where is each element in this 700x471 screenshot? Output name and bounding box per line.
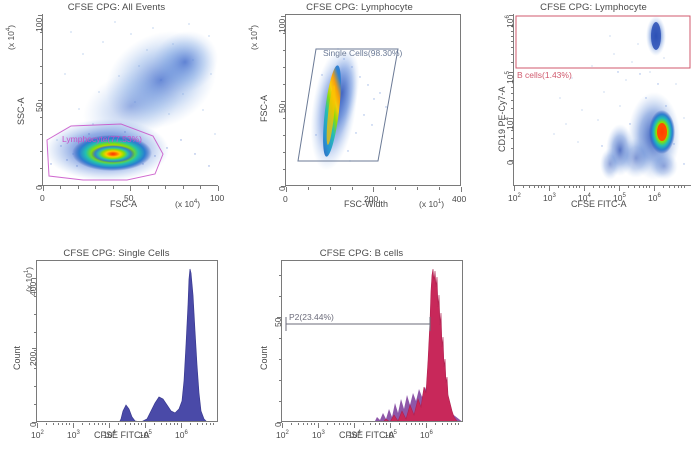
x-tick	[373, 187, 374, 192]
x-tick-major	[73, 423, 74, 428]
x-axis-label: FSC-Width	[344, 199, 388, 209]
y-axis-label: CD19 PE-Cy7-A	[497, 86, 507, 152]
x-tick-minor	[593, 186, 594, 188]
y-tick-minor	[511, 130, 514, 131]
x-mult-exp: 1	[438, 199, 441, 205]
x-tick	[395, 187, 396, 190]
y-tick	[40, 134, 43, 135]
x-tick-minor	[213, 423, 214, 425]
x-tick-minor	[399, 423, 400, 425]
y-tick	[283, 67, 286, 68]
marker-label-p2[interactable]: P2(23.44%)	[289, 312, 334, 322]
y-tick-minor	[511, 41, 514, 42]
y-tick-minor	[511, 54, 514, 55]
x-tick-minor	[523, 186, 524, 188]
x-tick-minor	[177, 423, 178, 425]
x-tick-label: 400	[452, 194, 466, 204]
x-tick-minor	[170, 423, 171, 425]
y-tick-minor	[279, 380, 282, 381]
x-tick-minor	[347, 423, 348, 425]
x-axis-label: CFSE FITC-A	[94, 430, 150, 440]
x-tick-minor	[89, 423, 90, 425]
y-tick	[283, 33, 286, 34]
x-tick-minor	[314, 423, 315, 425]
tick-exp: 2	[517, 193, 520, 199]
x-tick-minor	[311, 423, 312, 425]
tick-exp: 6	[429, 430, 432, 436]
x-tick-minor	[154, 423, 155, 425]
density-scatter-canvas	[286, 15, 460, 185]
y-axis-label: FSC-A	[259, 95, 269, 122]
x-tick-minor	[98, 423, 99, 425]
x-tick-minor	[339, 423, 340, 425]
x-tick-major	[584, 186, 585, 191]
y-tick-minor	[34, 314, 37, 315]
plot-area	[43, 14, 218, 185]
x-tick-minor	[118, 423, 119, 425]
panel-single-cells-hist: CFSE CPG: Single Cells	[0, 240, 233, 471]
x-tick-minor	[82, 423, 83, 425]
y-tick-minor	[511, 36, 514, 37]
x-tick	[165, 186, 166, 189]
y-mult-text: (x 10	[6, 31, 16, 50]
tick-base: 10	[505, 19, 515, 28]
x-tick-minor	[634, 186, 635, 188]
x-tick-minor	[599, 186, 600, 188]
y-tick-minor	[511, 108, 514, 109]
y-tick-minor	[34, 368, 37, 369]
y-tick-label: 106	[505, 15, 515, 28]
x-tick	[183, 186, 184, 189]
y-axis-multiplier: (x 104)	[6, 25, 16, 50]
x-tick-major	[549, 186, 550, 191]
x-tick-minor	[458, 423, 459, 425]
x-tick-minor	[166, 423, 167, 425]
tick-exp: 3	[76, 430, 79, 436]
density-scatter-canvas	[43, 14, 218, 185]
x-tick-major	[514, 186, 515, 191]
x-axis-label: CFSE FITC-A	[339, 430, 395, 440]
x-tick-minor	[141, 423, 142, 425]
x-tick-label: 103	[67, 430, 80, 440]
x-tick-major	[354, 423, 355, 428]
x-tick-minor	[334, 423, 335, 425]
y-tick-minor	[34, 386, 37, 387]
density-scatter-canvas	[514, 14, 691, 185]
y-tick-label: 100	[34, 18, 44, 32]
x-tick-minor	[66, 423, 67, 425]
x-tick-minor	[558, 186, 559, 188]
plot-frame: 102 103 104 105 106 0 50	[281, 260, 463, 422]
y-tick	[38, 15, 43, 16]
x-tick-minor	[307, 423, 308, 425]
x-tick-minor	[684, 186, 685, 188]
panel-bcells-hist: CFSE CPG: B cells	[245, 240, 478, 471]
x-tick-minor	[327, 423, 328, 425]
x-tick-minor	[447, 423, 448, 425]
x-tick-minor	[608, 186, 609, 188]
plot-area	[282, 261, 462, 421]
tick-base: 10	[505, 75, 515, 84]
x-tick-minor	[62, 423, 63, 425]
x-tick-minor	[174, 423, 175, 425]
x-tick-minor	[614, 186, 615, 188]
x-tick-minor	[576, 186, 577, 188]
x-tick-minor	[435, 423, 436, 425]
x-tick-label: 102	[31, 430, 44, 440]
x-tick-minor	[406, 423, 407, 425]
x-tick-minor	[298, 423, 299, 425]
x-tick	[352, 187, 353, 190]
x-tick	[95, 186, 96, 189]
y-tick	[38, 100, 43, 101]
x-tick-minor	[649, 186, 650, 188]
x-tick-minor	[573, 186, 574, 188]
x-mult-text: (x 10	[175, 199, 194, 209]
y-tick-minor	[279, 338, 282, 339]
x-tick-major	[109, 423, 110, 428]
tick-exp: 6	[657, 193, 660, 199]
x-tick-minor	[455, 423, 456, 425]
tick-exp: 3	[321, 430, 324, 436]
x-tick	[439, 187, 440, 190]
panel-title: CFSE CPG: All Events	[0, 2, 233, 13]
x-tick	[113, 186, 114, 189]
x-tick-minor	[69, 423, 70, 425]
panel-title: CFSE CPG: B cells	[245, 248, 478, 259]
y-axis-label: Count	[12, 346, 22, 370]
x-mult-exp: 4	[194, 199, 197, 205]
plot-area	[286, 15, 460, 185]
y-tick-minor	[511, 148, 514, 149]
x-tick-minor	[202, 423, 203, 425]
x-tick-major	[318, 423, 319, 428]
x-tick-minor	[569, 186, 570, 188]
y-tick	[40, 117, 43, 118]
x-tick-minor	[134, 423, 135, 425]
panel-title: CFSE CPG: Lymphocyte	[487, 2, 700, 13]
plot-area	[37, 261, 217, 421]
y-tick	[283, 50, 286, 51]
y-tick-minor	[279, 359, 282, 360]
y-tick-label: 0	[277, 186, 287, 191]
y-mult-text: (x 10	[249, 31, 259, 50]
y-axis-label: SSC-A	[16, 97, 26, 125]
plot-area	[514, 14, 691, 185]
x-tick-minor	[442, 423, 443, 425]
x-tick-major	[145, 423, 146, 428]
y-tick-minor	[511, 87, 514, 88]
x-tick-minor	[210, 423, 211, 425]
x-tick-label: 0	[40, 193, 45, 203]
x-tick	[218, 186, 219, 191]
x-axis-multiplier: (x 104)	[175, 199, 200, 209]
x-tick-minor	[674, 186, 675, 188]
y-tick-minor	[511, 93, 514, 94]
tick-exp: 2	[285, 430, 288, 436]
x-tick-minor	[534, 186, 535, 188]
x-tick	[78, 186, 79, 189]
y-axis-multiplier: (x 104)	[249, 25, 259, 50]
x-tick-minor	[681, 186, 682, 188]
panel-lymphocyte-bcells: CFSE CPG: Lymphocyte	[487, 0, 700, 235]
y-tick-label: 0	[273, 422, 283, 427]
y-tick-minor	[279, 401, 282, 402]
tick-exp: 3	[552, 193, 555, 199]
gate-label-bcells[interactable]: B cells(1.43%)	[517, 70, 572, 80]
x-tick-minor	[678, 186, 679, 188]
x-tick-label: 0	[283, 194, 288, 204]
x-axis-label: CFSE FITC-A	[571, 199, 627, 209]
x-tick	[308, 187, 309, 190]
plot-frame: 102 103 104 105 106 0 200 400	[36, 260, 218, 422]
x-tick-label: 106	[420, 430, 433, 440]
x-tick-minor	[363, 423, 364, 425]
y-tick-minor	[279, 275, 282, 276]
x-tick-minor	[544, 186, 545, 188]
y-tick-label: 0	[34, 185, 44, 190]
x-tick	[200, 186, 201, 189]
gate-label-single-cells[interactable]: Single Cells(98.30%)	[323, 48, 402, 58]
x-tick-minor	[343, 423, 344, 425]
y-tick-minor	[511, 47, 514, 48]
histogram-trace-bcells	[282, 269, 462, 421]
x-tick	[148, 186, 149, 189]
x-tick	[461, 187, 462, 192]
x-tick	[130, 186, 131, 191]
y-tick	[40, 66, 43, 67]
y-mult-exp: 4	[249, 28, 255, 31]
y-mult-text: (x 10	[24, 273, 34, 292]
x-tick-minor	[375, 423, 376, 425]
x-tick-minor	[130, 423, 131, 425]
x-tick	[417, 187, 418, 190]
panel-lymphocyte-singlets: CFSE CPG: Lymphocyte	[243, 0, 476, 235]
y-tick	[283, 152, 286, 153]
x-tick-minor	[579, 186, 580, 188]
x-tick-minor	[102, 423, 103, 425]
x-axis-label: FSC-A	[110, 199, 137, 209]
x-tick-major	[619, 186, 620, 191]
panel-all-events: CFSE CPG: All Events	[0, 0, 233, 235]
x-tick-label: 106	[175, 430, 188, 440]
y-tick-label: 50	[273, 318, 283, 327]
x-tick-minor	[451, 423, 452, 425]
x-tick-minor	[529, 186, 530, 188]
tick-exp: 2	[40, 430, 43, 436]
x-tick-minor	[419, 423, 420, 425]
x-tick-minor	[125, 423, 126, 425]
x-tick-minor	[663, 186, 664, 188]
y-mult-exp: 4	[6, 28, 12, 31]
y-tick	[40, 151, 43, 152]
plot-frame: 0 200 400 0 50 100	[285, 14, 461, 186]
histogram-canvas	[37, 261, 217, 421]
y-axis-label: Count	[259, 346, 269, 370]
tick-exp: 6	[184, 430, 187, 436]
x-tick-minor	[669, 186, 670, 188]
y-tick-label: 50	[34, 103, 44, 112]
x-tick-minor	[541, 186, 542, 188]
y-axis-multiplier: (x 101)	[24, 267, 34, 292]
y-tick	[40, 168, 43, 169]
x-tick-minor	[411, 423, 412, 425]
x-tick-label: 100	[210, 193, 224, 203]
x-tick-label: 103	[312, 430, 325, 440]
x-tick-minor	[197, 423, 198, 425]
y-tick-label: 105	[505, 71, 515, 84]
x-tick-major	[426, 423, 427, 428]
y-mult-exp: 1	[24, 270, 30, 273]
y-tick-label: 0	[28, 422, 38, 427]
tick-exp: 5	[505, 71, 511, 74]
x-tick-minor	[611, 186, 612, 188]
y-tick	[281, 101, 286, 102]
x-tick-label: 102	[508, 193, 521, 203]
x-mult-text: (x 10	[419, 199, 438, 209]
x-tick-minor	[105, 423, 106, 425]
x-tick-label: 102	[276, 430, 289, 440]
y-tick	[283, 135, 286, 136]
x-tick-minor	[383, 423, 384, 425]
x-tick-minor	[386, 423, 387, 425]
x-tick-minor	[628, 186, 629, 188]
histogram-canvas	[282, 261, 462, 421]
y-tick-label: 100	[277, 19, 287, 33]
x-tick-minor	[53, 423, 54, 425]
x-tick	[330, 187, 331, 190]
y-tick-label: 200	[28, 352, 38, 366]
histogram-trace-single-cells	[37, 269, 217, 421]
y-tick-minor	[34, 296, 37, 297]
y-tick-major	[32, 348, 37, 349]
x-tick-minor	[161, 423, 162, 425]
y-tick-label: 50	[277, 104, 287, 113]
x-tick-minor	[379, 423, 380, 425]
x-tick-minor	[415, 423, 416, 425]
x-tick-minor	[639, 186, 640, 188]
y-tick-minor	[511, 31, 514, 32]
plot-frame: 0 50 100 0 50 100	[42, 14, 218, 186]
plot-frame: 102 103 104 105 106 0 104 105 106	[513, 14, 691, 186]
x-tick-minor	[58, 423, 59, 425]
x-tick	[60, 186, 61, 189]
x-tick-minor	[94, 423, 95, 425]
tick-exp: 6	[505, 15, 511, 18]
x-tick-minor	[190, 423, 191, 425]
x-tick-minor	[564, 186, 565, 188]
x-tick-minor	[350, 423, 351, 425]
y-tick-minor	[279, 296, 282, 297]
x-tick-minor	[370, 423, 371, 425]
y-tick-label: 0	[505, 160, 515, 165]
x-tick-minor	[46, 423, 47, 425]
x-tick-minor	[646, 186, 647, 188]
y-tick-minor	[34, 332, 37, 333]
x-tick-label: 103	[543, 193, 556, 203]
x-axis-multiplier: (x 101)	[419, 199, 444, 209]
y-tick-minor	[511, 100, 514, 101]
x-tick-major	[390, 423, 391, 428]
x-tick-label: 106	[648, 193, 661, 203]
x-tick-major	[654, 186, 655, 191]
y-tick	[283, 118, 286, 119]
y-tick	[283, 169, 286, 170]
x-tick-major	[181, 423, 182, 428]
y-tick-minor	[511, 138, 514, 139]
y-tick-minor	[511, 62, 514, 63]
panel-title: CFSE CPG: Single Cells	[0, 248, 233, 259]
x-tick-minor	[303, 423, 304, 425]
x-tick-minor	[538, 186, 539, 188]
panel-title: CFSE CPG: Lymphocyte	[243, 2, 476, 13]
gate-label-lymphocyte[interactable]: Lymphocyte(77.53%)	[62, 134, 142, 144]
x-tick-minor	[206, 423, 207, 425]
y-tick	[40, 49, 43, 50]
x-tick-minor	[422, 423, 423, 425]
y-tick	[281, 16, 286, 17]
y-tick	[40, 32, 43, 33]
x-tick-minor	[291, 423, 292, 425]
y-tick	[40, 83, 43, 84]
x-tick-minor	[643, 186, 644, 188]
y-tick-minor	[34, 404, 37, 405]
y-tick	[283, 84, 286, 85]
x-tick-minor	[138, 423, 139, 425]
x-tick-minor	[604, 186, 605, 188]
